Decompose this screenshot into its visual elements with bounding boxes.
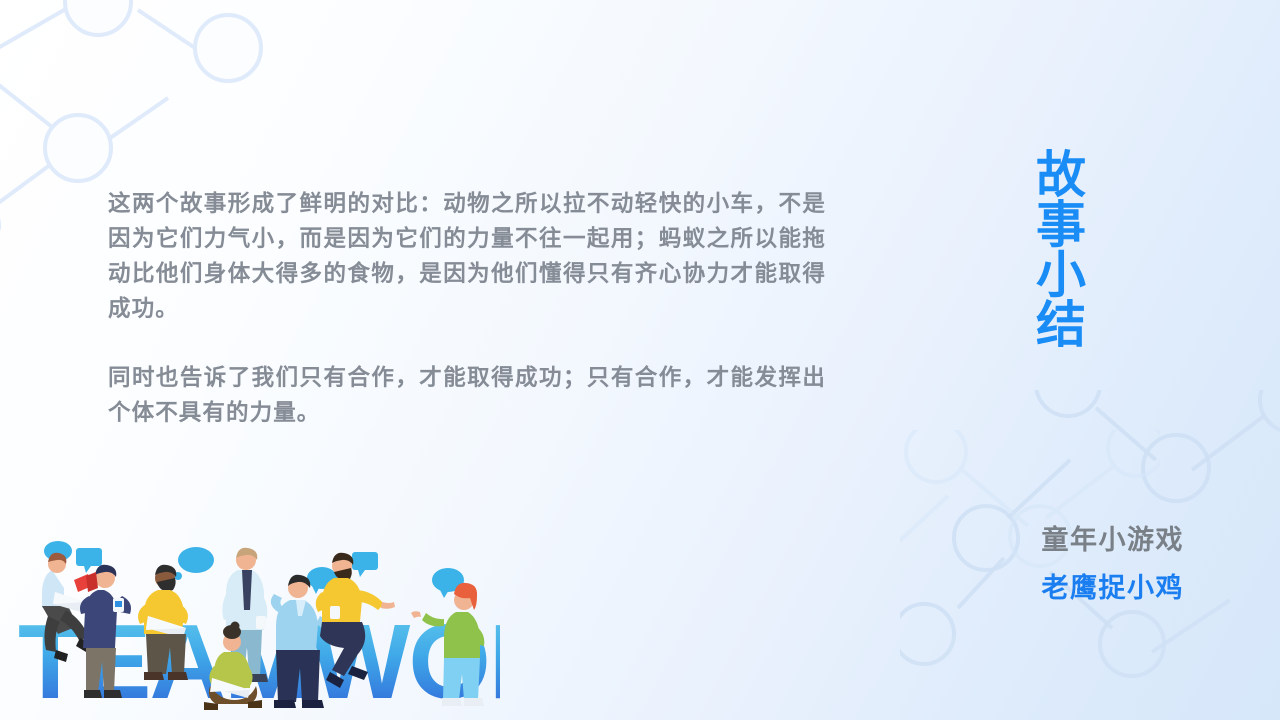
body-copy: 这两个故事形成了鲜明的对比：动物之所以拉不动轻快的小车，不是因为它们力气小，而是… — [108, 186, 826, 430]
caption-main: 老鹰捉小鸡 — [1042, 569, 1185, 607]
caption-subtitle: 童年小游戏 — [1042, 521, 1185, 559]
paragraph-2: 同时也告诉了我们只有合作，才能取得成功；只有合作，才能发挥出个体不具有的力量。 — [108, 360, 826, 430]
page-title-vertical: 故事小结 — [1020, 148, 1084, 378]
paragraph-1: 这两个故事形成了鲜明的对比：动物之所以拉不动轻快的小车，不是因为它们力气小，而是… — [108, 186, 826, 326]
slide-root: 这两个故事形成了鲜明的对比：动物之所以拉不动轻快的小车，不是因为它们力气小，而是… — [0, 0, 1280, 720]
caption-block: 童年小游戏 老鹰捉小鸡 — [1042, 521, 1185, 607]
teamwork-illustration: TEAMWORK — [0, 520, 500, 720]
